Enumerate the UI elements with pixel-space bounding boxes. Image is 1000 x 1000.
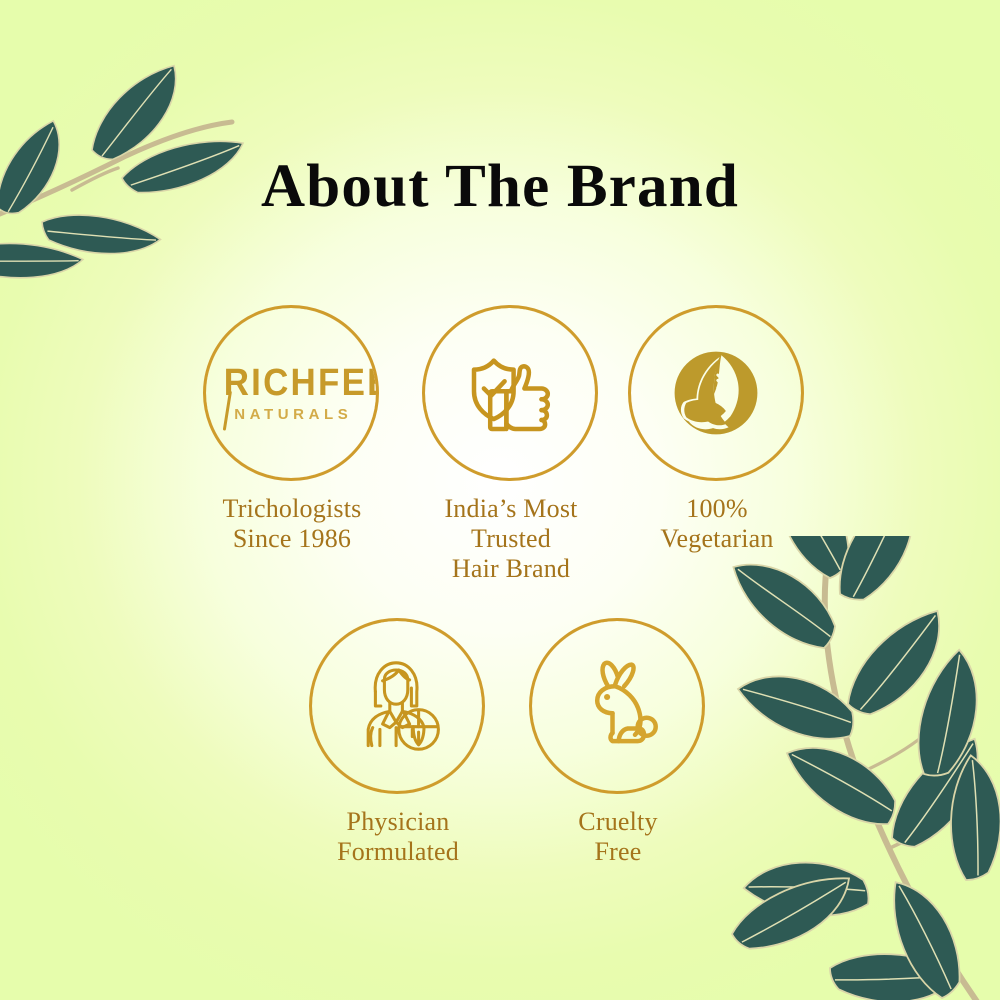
badge-label-line2: Free (529, 837, 707, 867)
badge-label-line2: Trusted (422, 524, 600, 554)
female-physician-hair-follicle-icon (343, 652, 451, 760)
richfeel-subtitle: NATURALS (215, 407, 367, 422)
page-title: About The Brand (0, 156, 1000, 217)
badge-label-line3: Hair Brand (422, 554, 600, 584)
badge-label-line1: India’s Most (422, 494, 600, 524)
rabbit-icon (563, 652, 671, 760)
badge-label-line2: Vegetarian (628, 524, 806, 554)
richfeel-word-text: RICHFEEL (224, 362, 379, 404)
badge-trusted-hair-brand: India’s Most Trusted Hair Brand (422, 305, 600, 584)
badge-label-line2: Since 1986 (203, 524, 381, 554)
leaf-branch-decoration-top-left (0, 22, 286, 282)
badge-label-line2: Formulated (309, 837, 487, 867)
badge-trichologists: RICHFEEL® NATURALS Trichologists Since 1… (203, 305, 381, 554)
badge-circle (529, 618, 705, 794)
badge-physician-formulated: Physician Formulated (309, 618, 487, 867)
badge-label-line1: Trichologists (203, 494, 381, 524)
badge-label-line1: Cruelty (529, 807, 707, 837)
badge-label-vegetarian: 100% Vegetarian (628, 494, 806, 554)
richfeel-naturals-logo: RICHFEEL® NATURALS (215, 364, 367, 422)
about-the-brand-panel: About The Brand RICHFEEL® NATURALS Trich… (0, 0, 1000, 1000)
badge-vegetarian: 100% Vegetarian (628, 305, 806, 554)
badge-label-line1: 100% (628, 494, 806, 524)
leaf-circle-icon (662, 339, 770, 447)
badge-circle (309, 618, 485, 794)
badge-circle (422, 305, 598, 481)
richfeel-wordmark: RICHFEEL® (224, 364, 379, 402)
badge-circle: RICHFEEL® NATURALS (203, 305, 379, 481)
badge-label-trichologists: Trichologists Since 1986 (203, 494, 381, 554)
leaf-branch-decoration-bottom-right (680, 536, 1000, 1000)
badge-label-physician: Physician Formulated (309, 807, 487, 867)
badge-label-trusted: India’s Most Trusted Hair Brand (422, 494, 600, 584)
badge-label-line1: Physician (309, 807, 487, 837)
badge-circle (628, 305, 804, 481)
shield-check-thumbs-up-icon (456, 339, 564, 447)
badge-cruelty-free: Cruelty Free (529, 618, 707, 867)
badge-label-cruelty: Cruelty Free (529, 807, 707, 867)
